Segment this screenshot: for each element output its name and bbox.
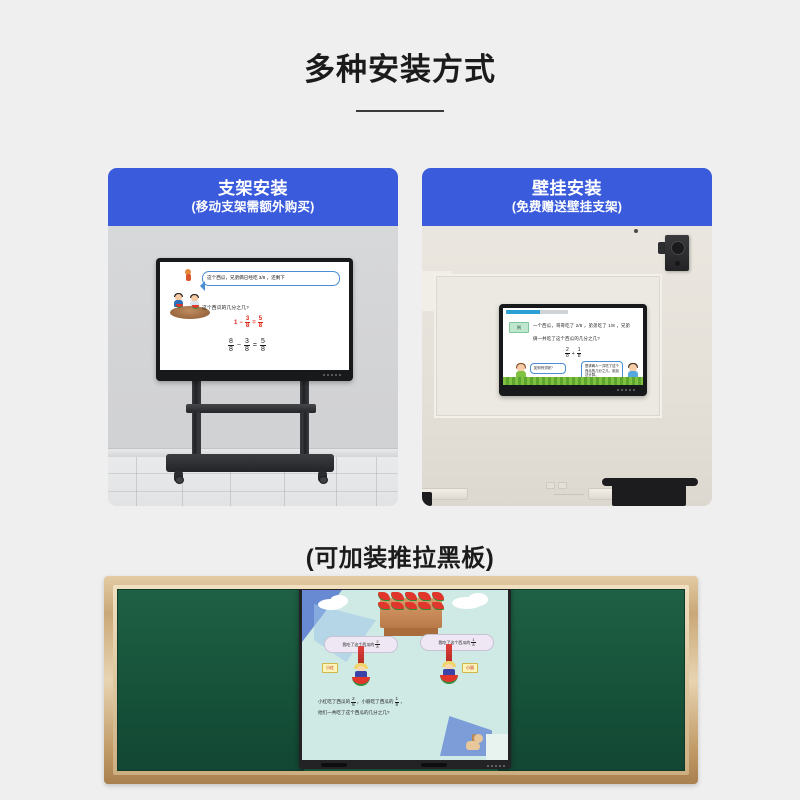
title-block: 多种安装方式 <box>0 52 800 112</box>
equation-red: 1 − 3 8 = 5 8 <box>234 316 263 329</box>
fraction-1-8: 1 8 <box>471 638 475 647</box>
panel-header-wall-mount: 壁挂安装 (免费赠送壁挂支架) <box>422 168 712 226</box>
display-status-leds <box>323 374 341 376</box>
fraction-1-8: 1 8 <box>395 697 400 707</box>
caster-right <box>318 471 327 482</box>
podium-top <box>602 478 698 486</box>
cloud-icon <box>330 595 348 607</box>
speech-bubble-teacher: 如何列式呢? <box>530 363 566 374</box>
panel-title: 壁挂安装 <box>532 180 602 198</box>
caster-left <box>174 471 183 482</box>
name-tag-left: 小红 <box>322 663 338 673</box>
lesson-slide-addition: 例 一个西瓜，哥哥吃了 2/8 ，弟弟吃了 1/8 ，兄弟 俩一共吃了这个西瓜的… <box>503 308 643 392</box>
lesson-slide-subtraction: 这个西瓜，兄弟俩已经吃 3/8 ，还剩下 <box>160 262 349 377</box>
cloud-icon <box>468 593 488 606</box>
wall-outlet <box>546 482 555 489</box>
name-tag-right: 小丽 <box>462 663 478 673</box>
page-title: 多种安装方式 <box>0 52 800 88</box>
blackboard-surface: 我吃了这个西瓜的 2 8 小红 <box>117 589 685 771</box>
panel-subtitle: (移动支架需额外购买) <box>191 201 314 214</box>
display-screen: 例 一个西瓜，哥哥吃了 2/8 ，弟弟吃了 1/8 ，兄弟 俩一共吃了这个西瓜的… <box>503 308 643 392</box>
bottom-caption: (可加装推拉黑板) <box>0 538 800 573</box>
display-screen: 这个西瓜，兄弟俩已经吃 3/8 ，还剩下 <box>160 262 349 377</box>
slide-caption-line-2: 他们一共吃了这个西瓜的几分之几? <box>318 709 389 717</box>
photo-wall-mount: 例 一个西瓜，哥哥吃了 2/8 ，弟弟吃了 1/8 ，兄弟 俩一共吃了这个西瓜的… <box>422 226 712 506</box>
panel-subtitle: (免费赠送壁挂支架) <box>512 201 622 214</box>
slide-equation: 2 8 + 1 8 <box>565 348 581 359</box>
display-status-leds <box>487 765 505 767</box>
interactive-flat-panel-display[interactable]: 这个西瓜，兄弟俩已经吃 3/8 ，还剩下 <box>156 258 353 381</box>
fraction-1-8: 1 8 <box>577 348 582 359</box>
ceiling-sensor-icon <box>634 229 638 233</box>
wall-outlet <box>558 482 567 489</box>
product-feature-page: 多种安装方式 支架安装 (移动支架需额外购买) <box>0 0 800 800</box>
example-tag: 例 <box>509 322 529 333</box>
title-divider <box>356 110 444 112</box>
character-xiaohong <box>350 646 372 686</box>
dog-icon <box>466 734 482 750</box>
blackboard-inner-frame: 我吃了这个西瓜的 2 8 小红 <box>113 585 689 775</box>
fraction-8-8: 8 8 <box>228 338 234 353</box>
blackboard-panel-left[interactable] <box>117 589 304 771</box>
display-handle-right[interactable] <box>421 763 447 767</box>
display-bezel-bottom <box>160 370 349 377</box>
interactive-flat-panel-display[interactable]: 例 一个西瓜，哥哥吃了 2/8 ，弟弟吃了 1/8 ，兄弟 俩一共吃了这个西瓜的… <box>499 304 647 396</box>
panel-title: 支架安装 <box>218 180 288 198</box>
teacher-chair <box>422 492 432 506</box>
decoration-shape <box>486 734 508 760</box>
slide-toolbar <box>506 310 568 314</box>
panel-bracket-mount[interactable]: 支架安装 (移动支架需额外购买) <box>108 168 398 506</box>
fraction-2-8: 2 8 <box>565 348 570 359</box>
equation-black: 8 8 − 3 8 = 5 8 <box>228 338 266 353</box>
fraction-3-8: 3 8 <box>244 338 250 353</box>
cart-shelf <box>186 404 316 413</box>
cart-shelf-leg-left <box>192 412 199 460</box>
fraction-5-8: 5 8 <box>258 316 263 329</box>
fraction-5-8: 5 8 <box>260 338 266 353</box>
blackboard-panel-right[interactable] <box>498 589 685 771</box>
cart-base <box>166 454 334 472</box>
photo-bracket-mount: 这个西瓜，兄弟俩已经吃 3/8 ，还剩下 <box>108 226 398 506</box>
cart-shelf-leg-right <box>302 412 309 460</box>
slide-line-2: 俩一共吃了这个西瓜的几分之几? <box>533 336 600 342</box>
embedded-display-screen: 我吃了这个西瓜的 2 8 小红 <box>302 590 508 760</box>
slide-line-1: 一个西瓜，哥哥吃了 2/8 ，弟弟吃了 1/8 ，兄弟 <box>533 323 630 329</box>
power-cable <box>554 494 584 495</box>
slide-caption-line-1: 小红吃了西瓜的 2 8 ，小丽吃了西瓜的 1 8 ， <box>318 697 405 707</box>
panel-header-bracket-mount: 支架安装 (移动支架需额外购买) <box>108 168 398 226</box>
sliding-blackboard[interactable]: 我吃了这个西瓜的 2 8 小红 <box>104 576 698 784</box>
fraction-2-8: 2 8 <box>375 640 379 649</box>
fraction-3-8: 3 8 <box>245 316 250 329</box>
slide-question: 这个西瓜的几分之几? <box>202 304 249 311</box>
display-status-leds <box>617 389 635 391</box>
fraction-2-8: 2 8 <box>351 697 356 707</box>
embedded-interactive-display[interactable]: 我吃了这个西瓜的 2 8 小红 <box>299 589 511 769</box>
display-handle-left[interactable] <box>321 763 347 767</box>
bubble-text: 这个西瓜，兄弟俩已经吃 3/8 ，还剩下 <box>207 275 285 280</box>
character-xiaoli <box>438 644 460 684</box>
speech-bubble: 这个西瓜，兄弟俩已经吃 3/8 ，还剩下 <box>202 271 340 286</box>
monkey-character-icon <box>184 269 192 281</box>
watermelon-slices-group <box>378 592 444 610</box>
panel-wall-mount[interactable]: 壁挂安装 (免费赠送壁挂支架) 例 一个西瓜，哥哥吃了 2/8 ，弟弟吃了 1/… <box>422 168 712 506</box>
wall-speaker-icon <box>665 235 689 271</box>
classroom-furniture <box>422 470 712 506</box>
